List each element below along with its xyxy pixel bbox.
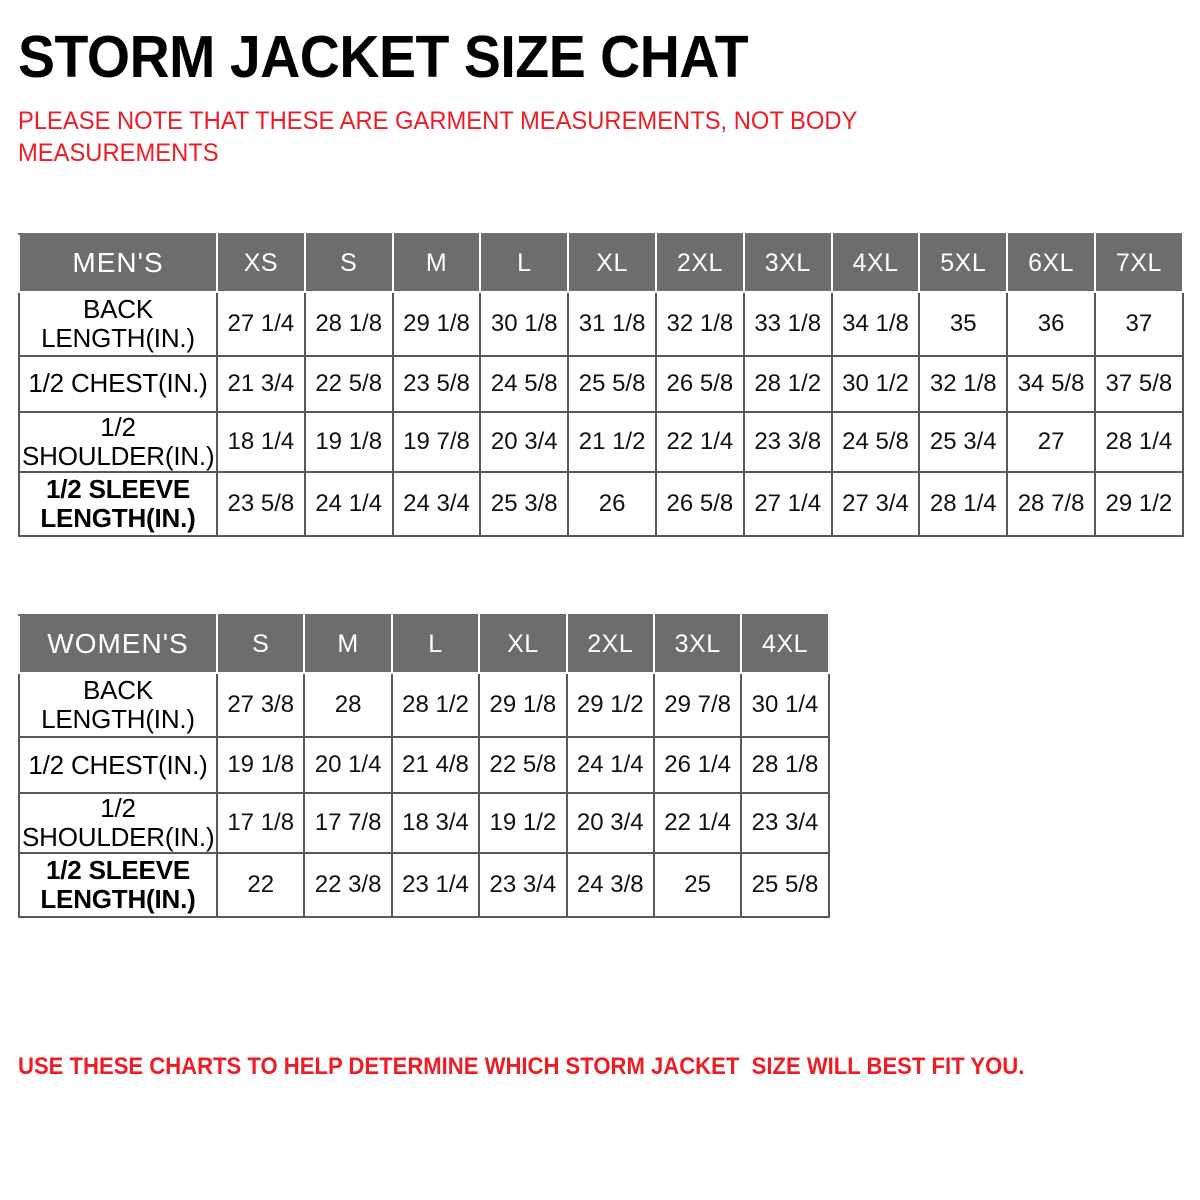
measurement-cell: 23 5/8 <box>217 472 305 536</box>
measurement-cell: 19 1/8 <box>217 737 304 793</box>
page-title: STORM JACKET SIZE CHAT <box>18 0 1112 87</box>
measurement-cell: 20 3/4 <box>567 793 654 853</box>
measurement-cell: 21 1/2 <box>568 412 656 472</box>
womens-size-table: WOMEN'SSMLXL2XL3XL4XL BACKLENGTH(IN.)27 … <box>18 614 830 918</box>
table-row: BACKLENGTH(IN.)27 1/428 1/829 1/830 1/83… <box>19 292 1183 356</box>
measurement-cell: 22 5/8 <box>479 737 566 793</box>
fit-guidance-note: USE THESE CHARTS TO HELP DETERMINE WHICH… <box>18 1053 1024 1081</box>
measurement-cell: 22 5/8 <box>305 356 393 412</box>
measurement-cell: 37 <box>1095 292 1183 356</box>
measurement-cell: 27 1/4 <box>217 292 305 356</box>
measurement-cell: 24 3/8 <box>567 853 654 917</box>
measurement-cell: 29 1/2 <box>1095 472 1183 536</box>
measurement-cell: 30 1/8 <box>480 292 568 356</box>
measurement-cell: 23 5/8 <box>393 356 481 412</box>
measurement-cell: 24 5/8 <box>480 356 568 412</box>
measurement-cell: 25 3/4 <box>919 412 1007 472</box>
measurement-cell: 19 1/2 <box>479 793 566 853</box>
size-column-header-xl: XL <box>479 615 566 673</box>
size-chart-page: STORM JACKET SIZE CHAT PLEASE NOTE THAT … <box>0 0 1200 1200</box>
measurement-cell: 29 1/2 <box>567 673 654 737</box>
row-label-line2: LENGTH(IN.) <box>22 504 214 533</box>
measurement-cell: 28 <box>304 673 391 737</box>
measurement-cell: 34 1/8 <box>832 292 920 356</box>
measurement-cell: 25 <box>654 853 741 917</box>
row-label: BACKLENGTH(IN.) <box>19 292 217 356</box>
row-label-line1: 1/2 SLEEVE <box>22 475 214 504</box>
measurement-cell: 30 1/4 <box>741 673 828 737</box>
measurement-cell: 19 1/8 <box>305 412 393 472</box>
measurement-cell: 25 5/8 <box>568 356 656 412</box>
measurement-cell: 18 3/4 <box>392 793 479 853</box>
table-row: 1/2 SLEEVELENGTH(IN.)23 5/824 1/424 3/42… <box>19 472 1183 536</box>
measurement-cell: 29 1/8 <box>479 673 566 737</box>
size-column-header-3xl: 3XL <box>744 234 832 292</box>
size-column-header-5xl: 5XL <box>919 234 1007 292</box>
mens-table-head: MEN'SXSSMLXL2XL3XL4XL5XL6XL7XL <box>19 234 1183 292</box>
measurement-cell: 23 3/4 <box>479 853 566 917</box>
measurement-cell: 22 1/4 <box>656 412 744 472</box>
measurement-cell: 28 1/8 <box>741 737 828 793</box>
row-label: 1/2 CHEST(IN.) <box>19 737 217 793</box>
row-label: 1/2 SLEEVELENGTH(IN.) <box>19 853 217 917</box>
measurement-cell: 28 7/8 <box>1007 472 1095 536</box>
measurement-cell: 20 1/4 <box>304 737 391 793</box>
measurement-cell: 27 3/8 <box>217 673 304 737</box>
measurement-cell: 27 3/4 <box>832 472 920 536</box>
measurement-cell: 24 1/4 <box>567 737 654 793</box>
measurement-cell: 18 1/4 <box>217 412 305 472</box>
measurement-cell: 17 7/8 <box>304 793 391 853</box>
size-column-header-l: L <box>392 615 479 673</box>
row-label-line1: BACK <box>22 676 214 705</box>
size-column-header-xs: XS <box>217 234 305 292</box>
row-label: 1/2 SLEEVELENGTH(IN.) <box>19 472 217 536</box>
table-row: 1/2 SHOULDER(IN.)17 1/817 7/818 3/419 1/… <box>19 793 829 853</box>
size-column-header-m: M <box>304 615 391 673</box>
measurement-cell: 29 1/8 <box>393 292 481 356</box>
table-header-row: MEN'SXSSMLXL2XL3XL4XL5XL6XL7XL <box>19 234 1183 292</box>
table-row: BACKLENGTH(IN.)27 3/82828 1/229 1/829 1/… <box>19 673 829 737</box>
measurement-cell: 28 1/2 <box>392 673 479 737</box>
measurement-cell: 34 5/8 <box>1007 356 1095 412</box>
measurement-cell: 33 1/8 <box>744 292 832 356</box>
measurement-cell: 23 3/8 <box>744 412 832 472</box>
table-row: 1/2 CHEST(IN.)19 1/820 1/421 4/822 5/824… <box>19 737 829 793</box>
measurement-cell: 22 3/8 <box>304 853 391 917</box>
measurement-cell: 25 3/8 <box>480 472 568 536</box>
measurement-cell: 22 <box>217 853 304 917</box>
size-column-header-4xl: 4XL <box>741 615 828 673</box>
measurement-cell: 27 <box>1007 412 1095 472</box>
measurement-cell: 20 3/4 <box>480 412 568 472</box>
measurement-cell: 23 3/4 <box>741 793 828 853</box>
measurement-cell: 22 1/4 <box>654 793 741 853</box>
table-header-row: WOMEN'SSMLXL2XL3XL4XL <box>19 615 829 673</box>
measurement-cell: 27 1/4 <box>744 472 832 536</box>
measurement-cell: 28 1/4 <box>919 472 1007 536</box>
measurement-cell: 19 7/8 <box>393 412 481 472</box>
measurement-cell: 32 1/8 <box>919 356 1007 412</box>
mens-corner-label: MEN'S <box>19 234 217 292</box>
row-label: 1/2 CHEST(IN.) <box>19 356 217 412</box>
measurement-cell: 25 5/8 <box>741 853 828 917</box>
measurement-cell: 24 5/8 <box>832 412 920 472</box>
size-column-header-2xl: 2XL <box>567 615 654 673</box>
measurement-cell: 32 1/8 <box>656 292 744 356</box>
row-label-line1: BACK <box>22 295 214 324</box>
measurement-cell: 24 1/4 <box>305 472 393 536</box>
row-label: BACKLENGTH(IN.) <box>19 673 217 737</box>
size-column-header-6xl: 6XL <box>1007 234 1095 292</box>
measurement-cell: 28 1/4 <box>1095 412 1183 472</box>
row-label: 1/2 SHOULDER(IN.) <box>19 412 217 472</box>
mens-table-body: BACKLENGTH(IN.)27 1/428 1/829 1/830 1/83… <box>19 292 1183 536</box>
size-column-header-m: M <box>393 234 481 292</box>
measurement-cell: 36 <box>1007 292 1095 356</box>
size-column-header-xl: XL <box>568 234 656 292</box>
size-column-header-2xl: 2XL <box>656 234 744 292</box>
table-row: 1/2 CHEST(IN.)21 3/422 5/823 5/824 5/825… <box>19 356 1183 412</box>
size-column-header-s: S <box>217 615 304 673</box>
size-column-header-s: S <box>305 234 393 292</box>
size-column-header-7xl: 7XL <box>1095 234 1183 292</box>
row-label-line2: LENGTH(IN.) <box>22 885 214 914</box>
measurement-cell: 23 1/4 <box>392 853 479 917</box>
measurement-cell: 30 1/2 <box>832 356 920 412</box>
measurement-cell: 17 1/8 <box>217 793 304 853</box>
table-row: 1/2 SHOULDER(IN.)18 1/419 1/819 7/820 3/… <box>19 412 1183 472</box>
row-label-line2: LENGTH(IN.) <box>22 705 214 734</box>
measurement-cell: 26 1/4 <box>654 737 741 793</box>
womens-table-body: BACKLENGTH(IN.)27 3/82828 1/229 1/829 1/… <box>19 673 829 917</box>
measurement-cell: 26 <box>568 472 656 536</box>
mens-size-table: MEN'SXSSMLXL2XL3XL4XL5XL6XL7XL BACKLENGT… <box>18 233 1184 537</box>
row-label: 1/2 SHOULDER(IN.) <box>19 793 217 853</box>
garment-measurement-note: PLEASE NOTE THAT THESE ARE GARMENT MEASU… <box>18 105 930 169</box>
measurement-cell: 31 1/8 <box>568 292 656 356</box>
size-column-header-3xl: 3XL <box>654 615 741 673</box>
measurement-cell: 26 5/8 <box>656 472 744 536</box>
size-column-header-4xl: 4XL <box>832 234 920 292</box>
measurement-cell: 35 <box>919 292 1007 356</box>
measurement-cell: 37 5/8 <box>1095 356 1183 412</box>
row-label-line2: LENGTH(IN.) <box>22 324 214 353</box>
measurement-cell: 21 3/4 <box>217 356 305 412</box>
table-row: 1/2 SLEEVELENGTH(IN.)2222 3/823 1/423 3/… <box>19 853 829 917</box>
measurement-cell: 24 3/4 <box>393 472 481 536</box>
measurement-cell: 28 1/2 <box>744 356 832 412</box>
measurement-cell: 29 7/8 <box>654 673 741 737</box>
womens-corner-label: WOMEN'S <box>19 615 217 673</box>
measurement-cell: 28 1/8 <box>305 292 393 356</box>
womens-table-head: WOMEN'SSMLXL2XL3XL4XL <box>19 615 829 673</box>
size-column-header-l: L <box>480 234 568 292</box>
row-label-line1: 1/2 SLEEVE <box>22 856 214 885</box>
measurement-cell: 21 4/8 <box>392 737 479 793</box>
measurement-cell: 26 5/8 <box>656 356 744 412</box>
